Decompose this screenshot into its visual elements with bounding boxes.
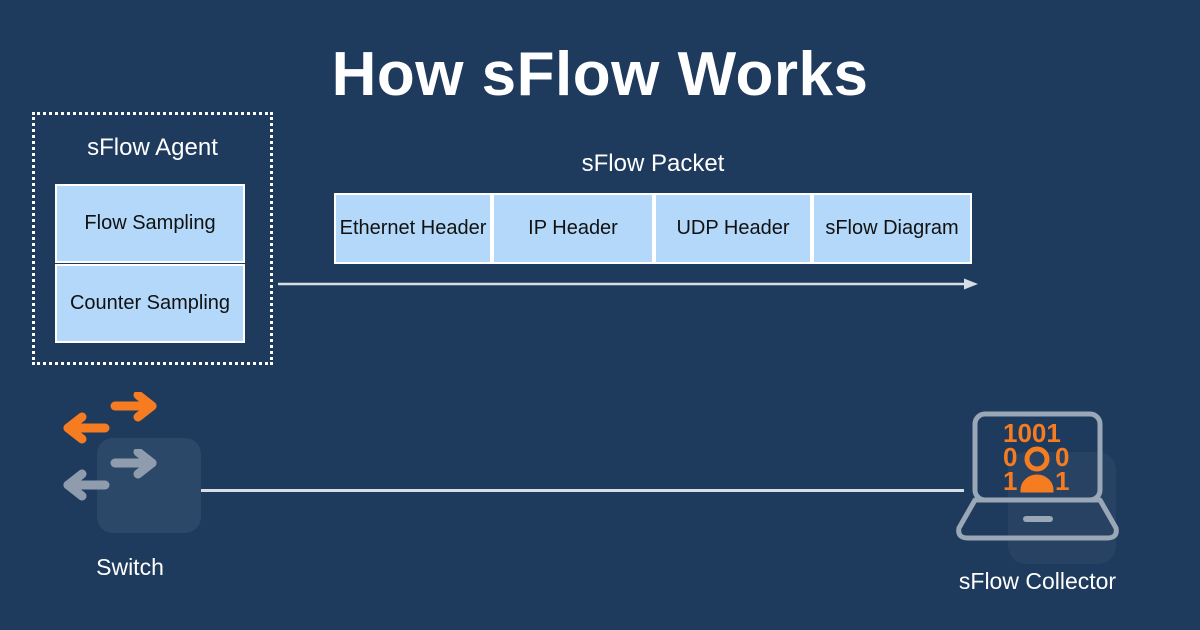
svg-text:1: 1 — [1055, 466, 1069, 496]
packet-field-sflow-diagram: sFlow Diagram — [812, 193, 972, 264]
sflow-collector-laptop-icon: 1001 0 0 1 1 — [955, 408, 1120, 548]
packet-field-ethernet-header: Ethernet Header — [334, 193, 492, 264]
switch-collector-link-line — [201, 489, 964, 492]
sflow-packet-row: Ethernet Header IP Header UDP Header sFl… — [334, 193, 972, 264]
page-title: How sFlow Works — [0, 38, 1200, 112]
packet-field-ethernet-header-label: Ethernet Header — [340, 217, 487, 240]
diagram-canvas: How sFlow Works sFlow Agent Flow Samplin… — [0, 0, 1200, 630]
agent-cell-flow-sampling-label: Flow Sampling — [84, 212, 215, 235]
sflow-packet-title: sFlow Packet — [334, 150, 972, 178]
packet-field-ip-header: IP Header — [492, 193, 654, 264]
switch-icon — [50, 392, 215, 542]
svg-text:1: 1 — [1003, 466, 1017, 496]
packet-field-sflow-diagram-label: sFlow Diagram — [825, 217, 958, 240]
packet-field-ip-header-label: IP Header — [528, 217, 618, 240]
switch-label: Switch — [50, 554, 210, 581]
agent-cell-counter-sampling: Counter Sampling — [55, 264, 245, 343]
agent-cell-flow-sampling: Flow Sampling — [55, 184, 245, 263]
switch-bidirectional-arrows-orange-icon — [60, 392, 160, 447]
agent-cell-counter-sampling-label: Counter Sampling — [70, 292, 230, 315]
packet-field-udp-header-label: UDP Header — [676, 217, 789, 240]
flow-arrow-icon — [278, 276, 978, 292]
sflow-agent-title: sFlow Agent — [32, 134, 273, 162]
switch-bidirectional-arrows-gray-icon — [60, 449, 160, 504]
sflow-collector-label: sFlow Collector — [930, 568, 1145, 595]
packet-field-udp-header: UDP Header — [654, 193, 812, 264]
